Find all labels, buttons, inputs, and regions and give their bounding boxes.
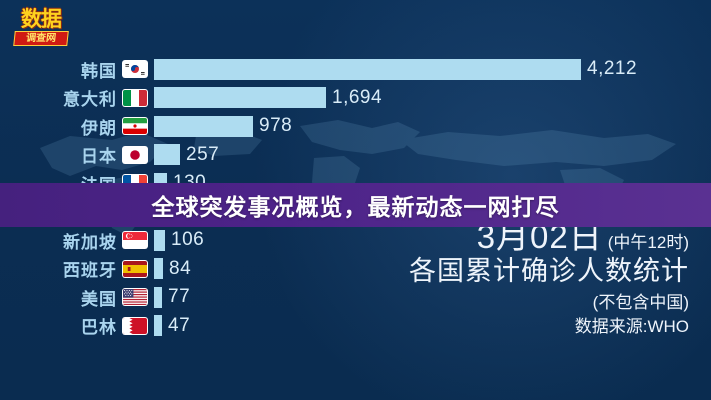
country-label: 韩国 [0,57,122,82]
bar-value-label: 1,694 [332,87,382,109]
overlay-banner-text: 全球突发事况概览，最新动态一网打尽 [152,188,560,222]
chart-note: (不包含中国) [319,290,689,315]
flag-icon-spain [122,260,148,278]
flag-icon-singapore [122,231,148,249]
date-sub: (中午12时) [608,228,689,253]
bar [154,59,581,80]
bar [154,315,162,336]
flag-icon-united-states [122,288,148,306]
chart-headline: 各国累计确诊人数统计 [319,255,689,288]
country-label: 美国 [0,285,122,310]
bar-value-label: 84 [169,258,191,280]
logo-subtitle: 调查网 [13,31,69,46]
country-label: 巴林 [0,313,122,338]
chart-row: 伊朗978 [0,112,711,141]
bar [154,258,163,279]
chart-row: 日本257 [0,141,711,170]
info-block: 3月02日 (中午12时) 各国累计确诊人数统计 (不包含中国) 数据来源:WH… [319,218,689,339]
bar-track: 4,212 [154,58,711,80]
data-source: 数据来源:WHO [319,315,689,339]
bar-value-label: 978 [259,115,292,137]
bar-value-label: 47 [168,315,190,337]
overlay-banner: 全球突发事况概览，最新动态一网打尽 [0,183,711,227]
country-label: 西班牙 [0,256,122,281]
site-logo: 数据 调查网 [14,9,68,53]
bar-value-label: 106 [171,229,204,251]
logo-title: 数据 [14,9,68,30]
bar-track: 257 [154,144,711,166]
bar [154,87,326,108]
bar-value-label: 4,212 [587,58,637,80]
flag-icon-italy [122,89,148,107]
infographic-stage: 数据 调查网 韩国4,212意大利1,694伊朗978日本257法国130德国1… [0,0,711,400]
chart-row: 韩国4,212 [0,55,711,84]
bar-value-label: 77 [168,286,190,308]
bar [154,144,180,165]
country-label: 日本 [0,142,122,167]
flag-icon-bahrain [122,317,148,335]
country-label: 新加坡 [0,228,122,253]
bar [154,230,165,251]
bar [154,116,253,137]
country-label: 意大利 [0,85,122,110]
flag-icon-japan [122,146,148,164]
bar-value-label: 257 [186,144,219,166]
flag-icon-iran [122,117,148,135]
chart-row: 意大利1,694 [0,84,711,113]
flag-icon-south-korea [122,60,148,78]
country-label: 伊朗 [0,114,122,139]
bar-track: 978 [154,115,711,137]
bar-track: 1,694 [154,87,711,109]
bar [154,287,162,308]
